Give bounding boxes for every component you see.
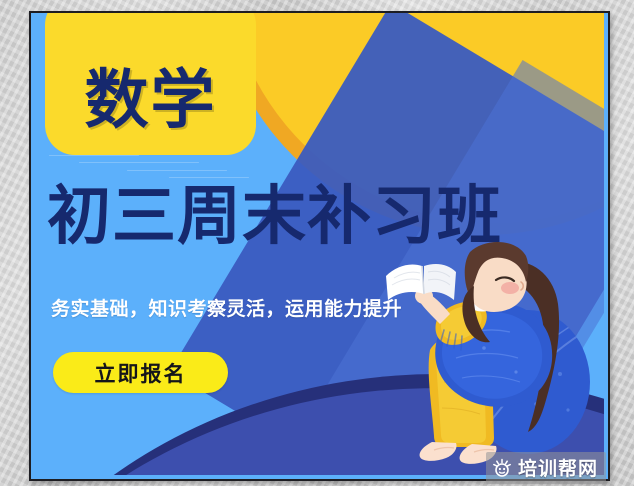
sky-streaks-decoration — [49, 151, 269, 181]
subtitle-text: 务实基础，知识考察灵活，运用能力提升 — [51, 294, 402, 321]
sun-face-icon — [492, 458, 512, 478]
signup-button[interactable]: 立即报名 — [53, 352, 228, 393]
watermark: 培训帮网 — [486, 452, 606, 484]
screenshot-root: 数学 初三周末补习班 务实基础，知识考察灵活，运用能力提升 立即报名 — [0, 0, 634, 486]
girl-reading-book-illustration — [378, 232, 604, 467]
page-title: 初三周末补习班 — [47, 185, 604, 249]
signup-button-label: 立即报名 — [95, 358, 187, 388]
poster-canvas: 数学 初三周末补习班 务实基础，知识考察灵活，运用能力提升 立即报名 — [31, 13, 604, 475]
watermark-text: 培训帮网 — [518, 454, 598, 481]
poster-frame: 数学 初三周末补习班 务实基础，知识考察灵活，运用能力提升 立即报名 — [29, 11, 610, 481]
subject-badge-label: 数学 — [45, 13, 256, 155]
